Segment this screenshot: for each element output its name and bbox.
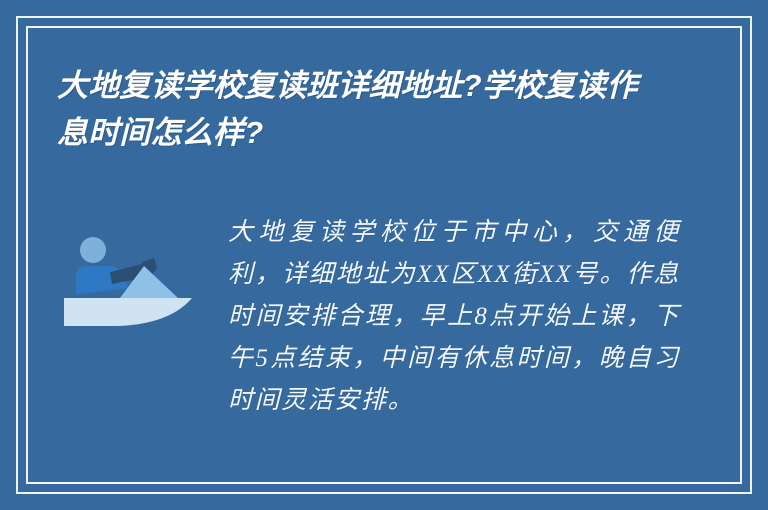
rowing-boat-illustration — [58, 236, 203, 331]
body-paragraph: 大地复读学校位于市中心，交通便利，详细地址为XX区XX街XX号。作息时间安排合理… — [228, 212, 680, 422]
page-title: 大地复读学校复读班详细地址?学校复读作息时间怎么样? — [57, 62, 657, 156]
illustration-head — [80, 237, 106, 263]
illustration-hull — [64, 298, 192, 326]
poster-canvas: 大地复读学校复读班详细地址?学校复读作息时间怎么样? 大地复读学校位于市中心，交… — [0, 0, 768, 510]
